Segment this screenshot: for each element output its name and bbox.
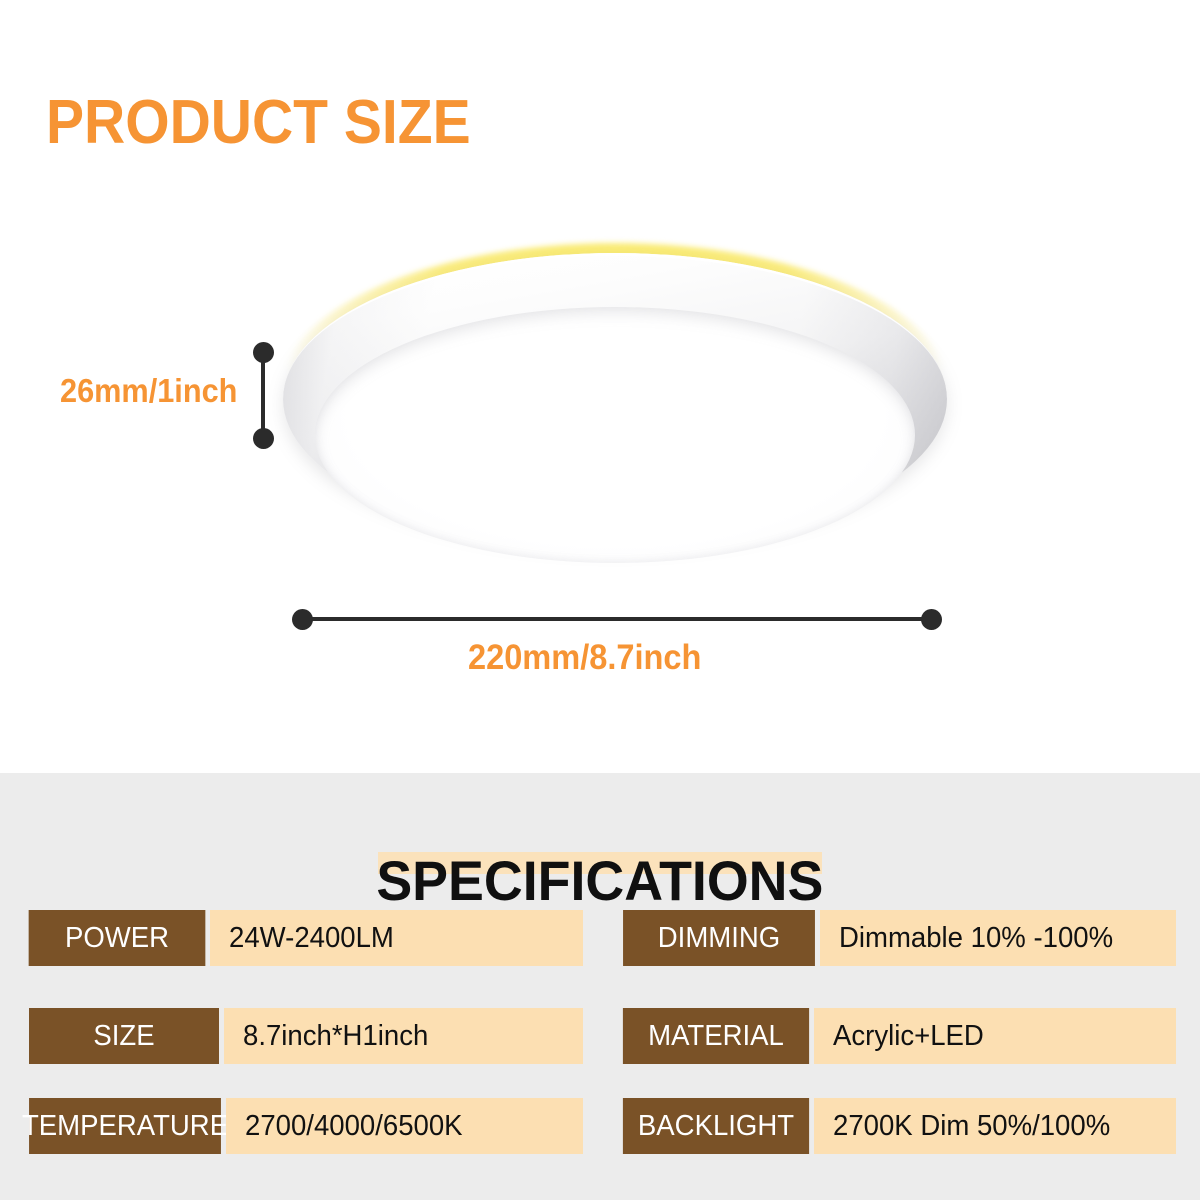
spec-row-backlight: BACKLIGHT 2700K Dim 50%/100%: [618, 1098, 1176, 1154]
specifications-title: SPECIFICATIONS: [376, 852, 823, 910]
spec-row-temperature: TEMPERATURE 2700/4000/6500K: [24, 1098, 583, 1154]
spec-value-dimming: Dimmable 10% -100%: [820, 910, 1176, 966]
spec-label-dimming: DIMMING: [623, 910, 815, 966]
height-dimension-dot-bottom: [253, 428, 274, 449]
spec-value-size-text: 8.7inch*H1inch: [243, 1020, 428, 1053]
spec-value-backlight-text: 2700K Dim 50%/100%: [833, 1110, 1110, 1143]
spec-label-material: MATERIAL: [623, 1008, 809, 1064]
product-size-section: PRODUCT SIZE 26mm/1inch 220mm/8.7inch: [0, 0, 1200, 773]
height-dimension-label: 26mm/1inch: [60, 372, 237, 410]
spec-value-size: 8.7inch*H1inch: [224, 1008, 583, 1064]
width-dimension-line: [302, 617, 928, 621]
page-title: PRODUCT SIZE: [46, 92, 471, 154]
product-image-led-ceiling-light: [275, 235, 955, 575]
spec-value-power-text: 24W-2400LM: [229, 922, 394, 955]
spec-value-backlight: 2700K Dim 50%/100%: [814, 1098, 1176, 1154]
spec-value-dimming-text: Dimmable 10% -100%: [839, 922, 1113, 955]
spec-value-material: Acrylic+LED: [814, 1008, 1176, 1064]
spec-value-power: 24W-2400LM: [210, 910, 583, 966]
fixture-diffuser-face: [315, 307, 915, 563]
spec-label-backlight: BACKLIGHT: [623, 1098, 809, 1154]
width-dimension-dot-left: [292, 609, 313, 630]
spec-row-material: MATERIAL Acrylic+LED: [618, 1008, 1176, 1064]
width-dimension-label: 220mm/8.7inch: [468, 638, 701, 678]
width-dimension-dot-right: [921, 609, 942, 630]
specifications-title-wrap: SPECIFICATIONS: [0, 806, 1200, 878]
spec-row-dimming: DIMMING Dimmable 10% -100%: [618, 910, 1176, 966]
height-dimension-dot-top: [253, 342, 274, 363]
spec-row-power: POWER 24W-2400LM: [24, 910, 583, 966]
height-dimension-line: [261, 352, 265, 436]
spec-row-size: SIZE 8.7inch*H1inch: [24, 1008, 583, 1064]
spec-value-temperature-text: 2700/4000/6500K: [245, 1110, 463, 1143]
spec-label-temperature: TEMPERATURE: [29, 1098, 221, 1154]
spec-value-material-text: Acrylic+LED: [833, 1020, 984, 1053]
specifications-section: SPECIFICATIONS POWER 24W-2400LM SIZE 8.7…: [0, 773, 1200, 1200]
spec-value-temperature: 2700/4000/6500K: [226, 1098, 583, 1154]
spec-label-power: POWER: [29, 910, 206, 966]
spec-label-size: SIZE: [29, 1008, 219, 1064]
